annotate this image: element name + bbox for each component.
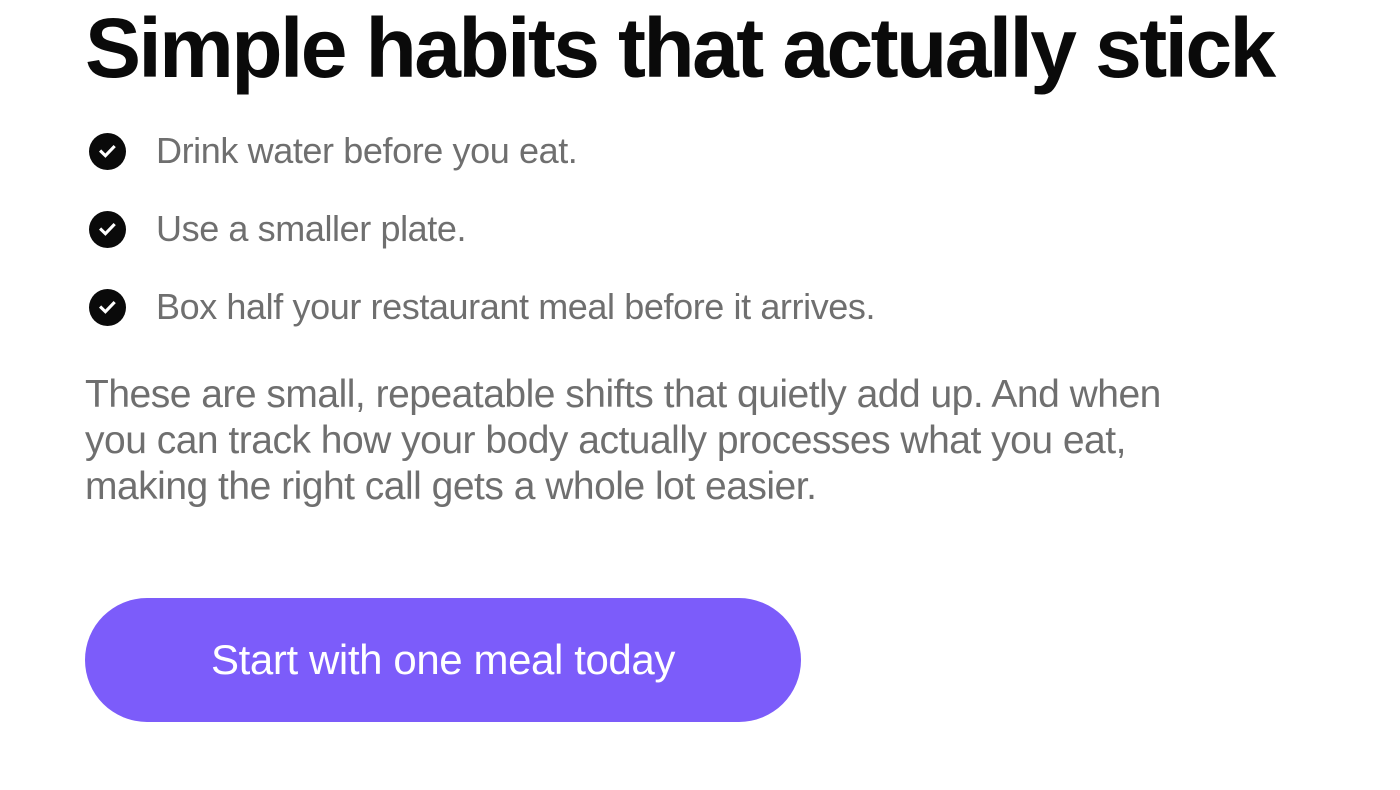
list-item: Box half your restaurant meal before it … [85,268,1400,346]
paragraph-line: making the right call gets a whole lot e… [85,464,1300,510]
check-circle-icon [89,211,126,248]
list-item-label: Use a smaller plate. [156,207,466,251]
check-circle-icon [89,289,126,326]
page-title: Simple habits that actually stick [85,0,1400,94]
body-paragraph: These are small, repeatable shifts that … [85,372,1300,510]
promo-panel: Simple habits that actually stick Drink … [0,0,1400,790]
paragraph-line: you can track how your body actually pro… [85,418,1300,464]
list-item-label: Drink water before you eat. [156,129,577,173]
list-item-label: Box half your restaurant meal before it … [156,285,875,329]
habits-checklist: Drink water before you eat. Use a smalle… [85,112,1400,346]
start-with-one-meal-button[interactable]: Start with one meal today [85,598,801,722]
cta-container: Start with one meal today [85,598,1400,722]
list-item: Drink water before you eat. [85,112,1400,190]
check-circle-icon [89,133,126,170]
list-item: Use a smaller plate. [85,190,1400,268]
paragraph-line: These are small, repeatable shifts that … [85,372,1300,418]
